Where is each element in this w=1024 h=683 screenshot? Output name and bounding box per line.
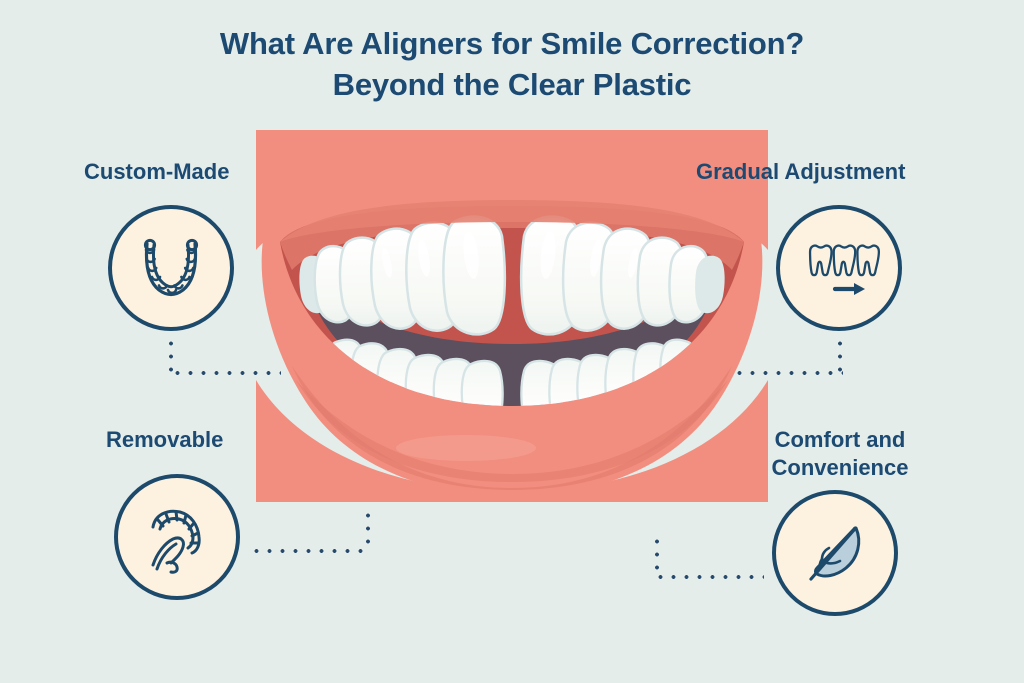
connector-gradual-vertical [838, 337, 842, 375]
aligner-arch-icon [129, 226, 213, 310]
title-line-2: Beyond the Clear Plastic [0, 67, 1024, 104]
connector-removable-horizontal [250, 549, 370, 553]
feature-label-removable: Removable [106, 426, 223, 454]
teeth-shift-arrow-icon [796, 225, 882, 311]
page-title: What Are Aligners for Smile Correction? … [0, 26, 1024, 103]
feature-icon-circle-removable[interactable] [114, 474, 240, 600]
feature-label-custom-made: Custom-Made [84, 158, 229, 186]
infographic-canvas: What Are Aligners for Smile Correction? … [0, 0, 1024, 683]
connector-custom-made-vertical [169, 337, 173, 375]
feature-label-comfort-and-convenience: Comfort and Convenience [752, 426, 928, 481]
title-line-1: What Are Aligners for Smile Correction? [0, 26, 1024, 63]
hand-holding-tray-icon [133, 493, 221, 581]
arrow-right-icon [835, 283, 865, 295]
feather-icon [794, 512, 876, 594]
connector-comfort-vertical [655, 535, 659, 577]
connector-custom-made-horizontal [171, 371, 281, 375]
connector-comfort-horizontal [654, 575, 764, 579]
feature-icon-circle-custom-made[interactable] [108, 205, 234, 331]
mouth-illustration [256, 130, 768, 502]
feature-icon-circle-comfort-and-convenience[interactable] [772, 490, 898, 616]
connector-removable-vertical [366, 509, 370, 551]
feature-label-gradual-adjustment: Gradual Adjustment [696, 158, 905, 186]
feature-icon-circle-gradual-adjustment[interactable] [776, 205, 902, 331]
connector-gradual-horizontal [733, 371, 843, 375]
